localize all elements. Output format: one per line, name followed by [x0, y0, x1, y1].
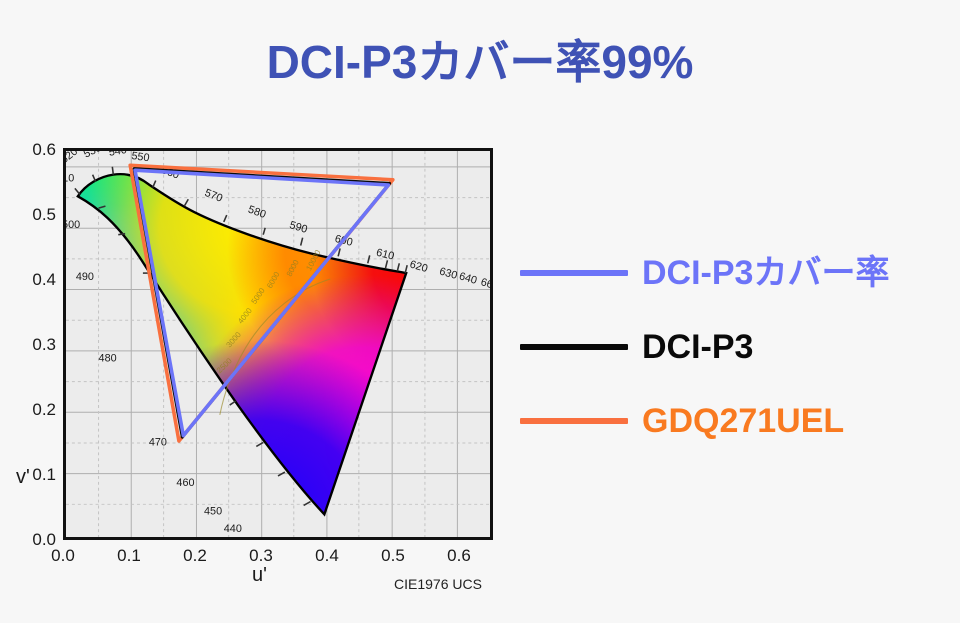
legend-item-dcip3[interactable]: DCI-P3 [520, 310, 950, 384]
legend-item-coverage[interactable]: DCI-P3カバー率 [520, 236, 950, 310]
legend: DCI-P3カバー率 DCI-P3 GDQ271UEL [520, 236, 950, 458]
cie-annotation: CIE1976 UCS [394, 576, 482, 592]
y-tick-label: 0.3 [14, 335, 56, 355]
svg-text:510: 510 [66, 173, 74, 185]
x-tick-label: 0.5 [371, 546, 415, 566]
svg-text:450: 450 [204, 505, 222, 517]
y-tick-label: 0.4 [14, 270, 56, 290]
y-tick-label: 0.2 [14, 400, 56, 420]
x-tick-label: 0.6 [437, 546, 481, 566]
legend-line-swatch-icon [520, 270, 628, 276]
svg-text:470: 470 [149, 436, 167, 448]
plot-area: 520 530 540 550 560 570 580 590 600 610 … [63, 148, 493, 540]
page-title: DCI-P3カバー率99% [0, 36, 960, 89]
x-tick-label: 0.1 [107, 546, 151, 566]
chromaticity-figure: 0.6 0.5 0.4 0.3 0.2 0.1 0.0 0.0 0.1 0.2 … [14, 136, 496, 602]
y-tick-label: 0.6 [14, 140, 56, 160]
svg-text:460: 460 [176, 477, 194, 489]
chart-page: DCI-P3カバー率99% 0.6 0.5 0.4 0.3 0.2 0.1 0.… [0, 0, 960, 623]
x-tick-label: 0.3 [239, 546, 283, 566]
x-axis-title: u' [252, 564, 267, 587]
legend-item-gdq271uel[interactable]: GDQ271UEL [520, 384, 950, 458]
x-tick-label: 0.4 [305, 546, 349, 566]
x-tick-label: 0.0 [41, 546, 85, 566]
x-tick-label: 0.2 [173, 546, 217, 566]
svg-text:480: 480 [99, 353, 117, 365]
legend-label: DCI-P3カバー率 [642, 256, 889, 290]
svg-text:490: 490 [76, 271, 94, 283]
y-tick-label: 0.5 [14, 205, 56, 225]
svg-text:440: 440 [224, 523, 242, 535]
chromaticity-diagram-svg: 520 530 540 550 560 570 580 590 600 610 … [66, 151, 490, 537]
legend-label: DCI-P3 [642, 330, 753, 364]
svg-text:500: 500 [66, 219, 80, 231]
legend-line-swatch-icon [520, 418, 628, 424]
legend-label: GDQ271UEL [642, 404, 844, 438]
y-axis-title: v' [16, 466, 30, 489]
legend-line-swatch-icon [520, 344, 628, 350]
